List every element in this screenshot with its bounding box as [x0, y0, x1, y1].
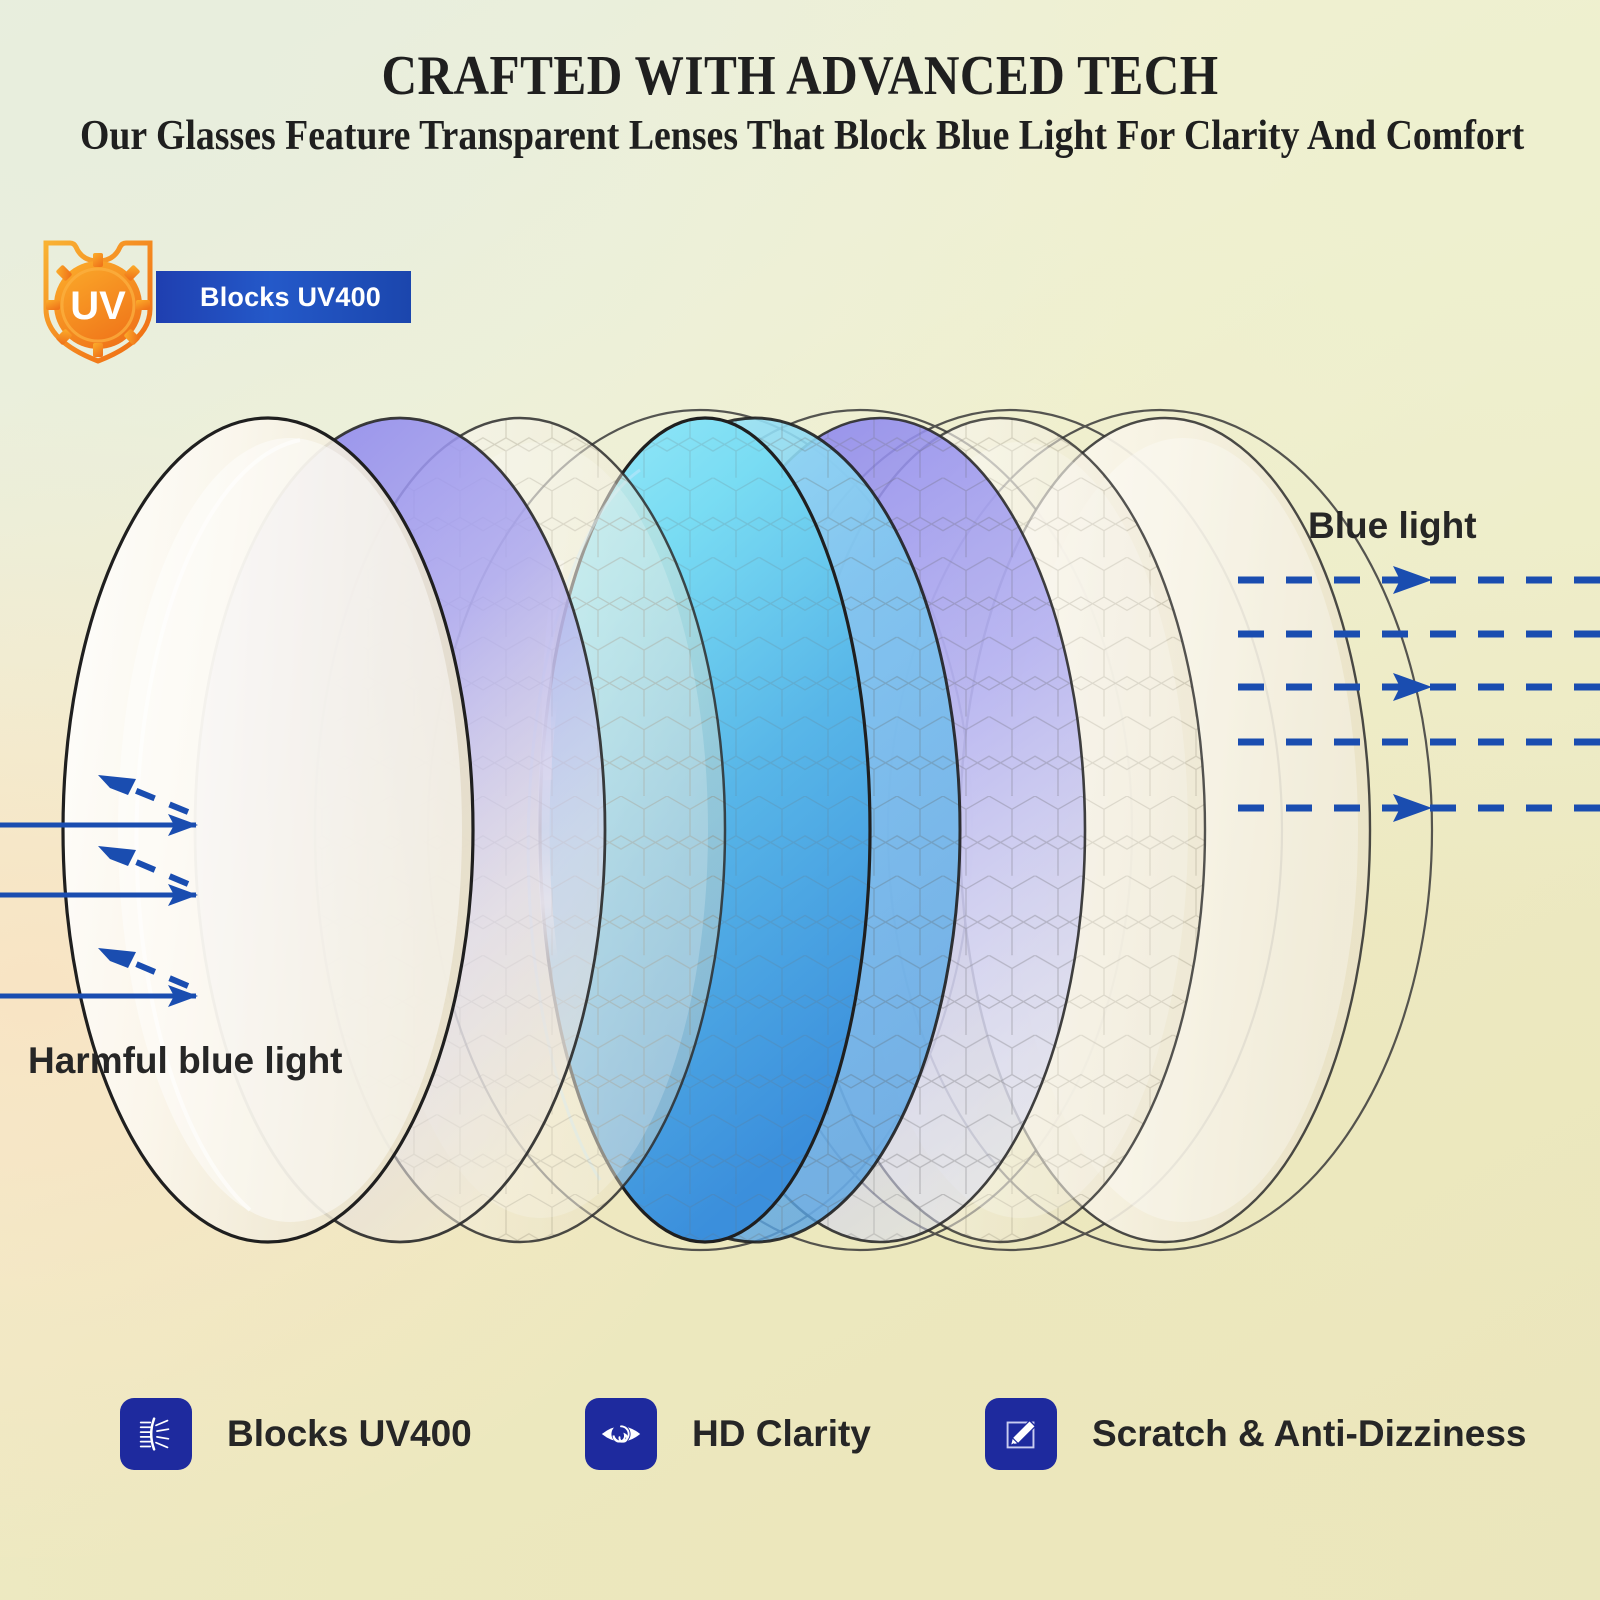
feature-item-blocks-uv400[interactable]: Blocks UV400 [120, 1398, 472, 1470]
feature-label: HD Clarity [692, 1413, 871, 1455]
eye-icon [585, 1398, 657, 1470]
feature-label: Blocks UV400 [227, 1413, 472, 1455]
uv-block-icon [120, 1398, 192, 1470]
blue-light-label: Blue light [1308, 505, 1477, 547]
pencil-icon [985, 1398, 1057, 1470]
feature-item-hd-clarity[interactable]: HD Clarity [585, 1398, 871, 1470]
harmful-blue-light-label: Harmful blue light [28, 1040, 343, 1082]
feature-label: Scratch & Anti-Dizziness [1092, 1413, 1527, 1455]
infographic-poster: CRAFTED WITH ADVANCED TECH Our Glasses F… [0, 0, 1600, 1600]
lens-layer-outer-coating-left [63, 418, 473, 1242]
feature-list: Blocks UV400 HD Clarity [0, 1398, 1600, 1518]
feature-item-scratch-anti-dizziness[interactable]: Scratch & Anti-Dizziness [985, 1398, 1527, 1470]
blue-light-arrowheads [1393, 566, 1432, 822]
lens-stack-diagram [0, 0, 1600, 1600]
